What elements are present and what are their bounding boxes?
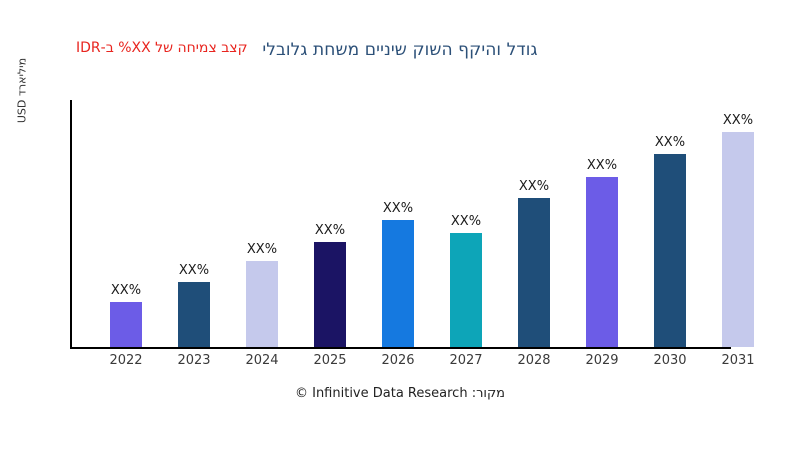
bar-value-label-2029: XX%: [568, 158, 636, 173]
x-tick-2028: 2028: [500, 353, 568, 368]
x-tick-2025: 2025: [296, 353, 364, 368]
bar-value-label-2030: XX%: [636, 135, 704, 150]
bar-value-label-2031: XX%: [704, 113, 772, 128]
chart-screenshot: גודל והיקף השוק שיניים משחת גלובלי קצב צ…: [0, 0, 800, 450]
bar-value-label-2026: XX%: [364, 201, 432, 216]
bar-group: XX%2022: [110, 100, 142, 347]
bar-value-label-2027: XX%: [432, 214, 500, 229]
bar-group: XX%2028: [518, 100, 550, 347]
plot-area: XX%2022XX%2023XX%2024XX%2025XX%2026XX%20…: [70, 100, 770, 349]
bar-value-label-2028: XX%: [500, 179, 568, 194]
x-tick-2029: 2029: [568, 353, 636, 368]
bar-2029[interactable]: [586, 177, 618, 347]
bar-group: XX%2030: [654, 100, 686, 347]
x-tick-2024: 2024: [228, 353, 296, 368]
source-note: מקור: Infinitive Data Research ©: [0, 386, 800, 401]
bar-2031[interactable]: [722, 132, 754, 347]
bar-group: XX%2029: [586, 100, 618, 347]
x-tick-2022: 2022: [92, 353, 160, 368]
x-tick-2031: 2031: [704, 353, 772, 368]
bar-2027[interactable]: [450, 233, 482, 347]
bar-2022[interactable]: [110, 302, 142, 347]
bar-value-label-2024: XX%: [228, 242, 296, 257]
bar-group: XX%2025: [314, 100, 346, 347]
cagr-annotation: קצב צמיחה של XX% ב-IDR: [76, 40, 248, 56]
x-tick-2026: 2026: [364, 353, 432, 368]
bar-group: XX%2023: [178, 100, 210, 347]
bar-group: XX%2031: [722, 100, 754, 347]
bar-group: XX%2026: [382, 100, 414, 347]
bar-2025[interactable]: [314, 242, 346, 347]
x-tick-2023: 2023: [160, 353, 228, 368]
bar-2023[interactable]: [178, 282, 210, 347]
bar-value-label-2023: XX%: [160, 263, 228, 278]
bar-2028[interactable]: [518, 198, 550, 347]
x-axis-line: [70, 347, 731, 349]
bar-2030[interactable]: [654, 154, 686, 347]
bar-value-label-2022: XX%: [92, 283, 160, 298]
y-axis-title: מיליארד USD: [16, 31, 29, 151]
bar-group: XX%2024: [246, 100, 278, 347]
bar-2026[interactable]: [382, 220, 414, 347]
bar-2024[interactable]: [246, 261, 278, 347]
y-axis-line: [70, 100, 72, 349]
bar-value-label-2025: XX%: [296, 223, 364, 238]
x-tick-2027: 2027: [432, 353, 500, 368]
x-tick-2030: 2030: [636, 353, 704, 368]
bar-group: XX%2027: [450, 100, 482, 347]
